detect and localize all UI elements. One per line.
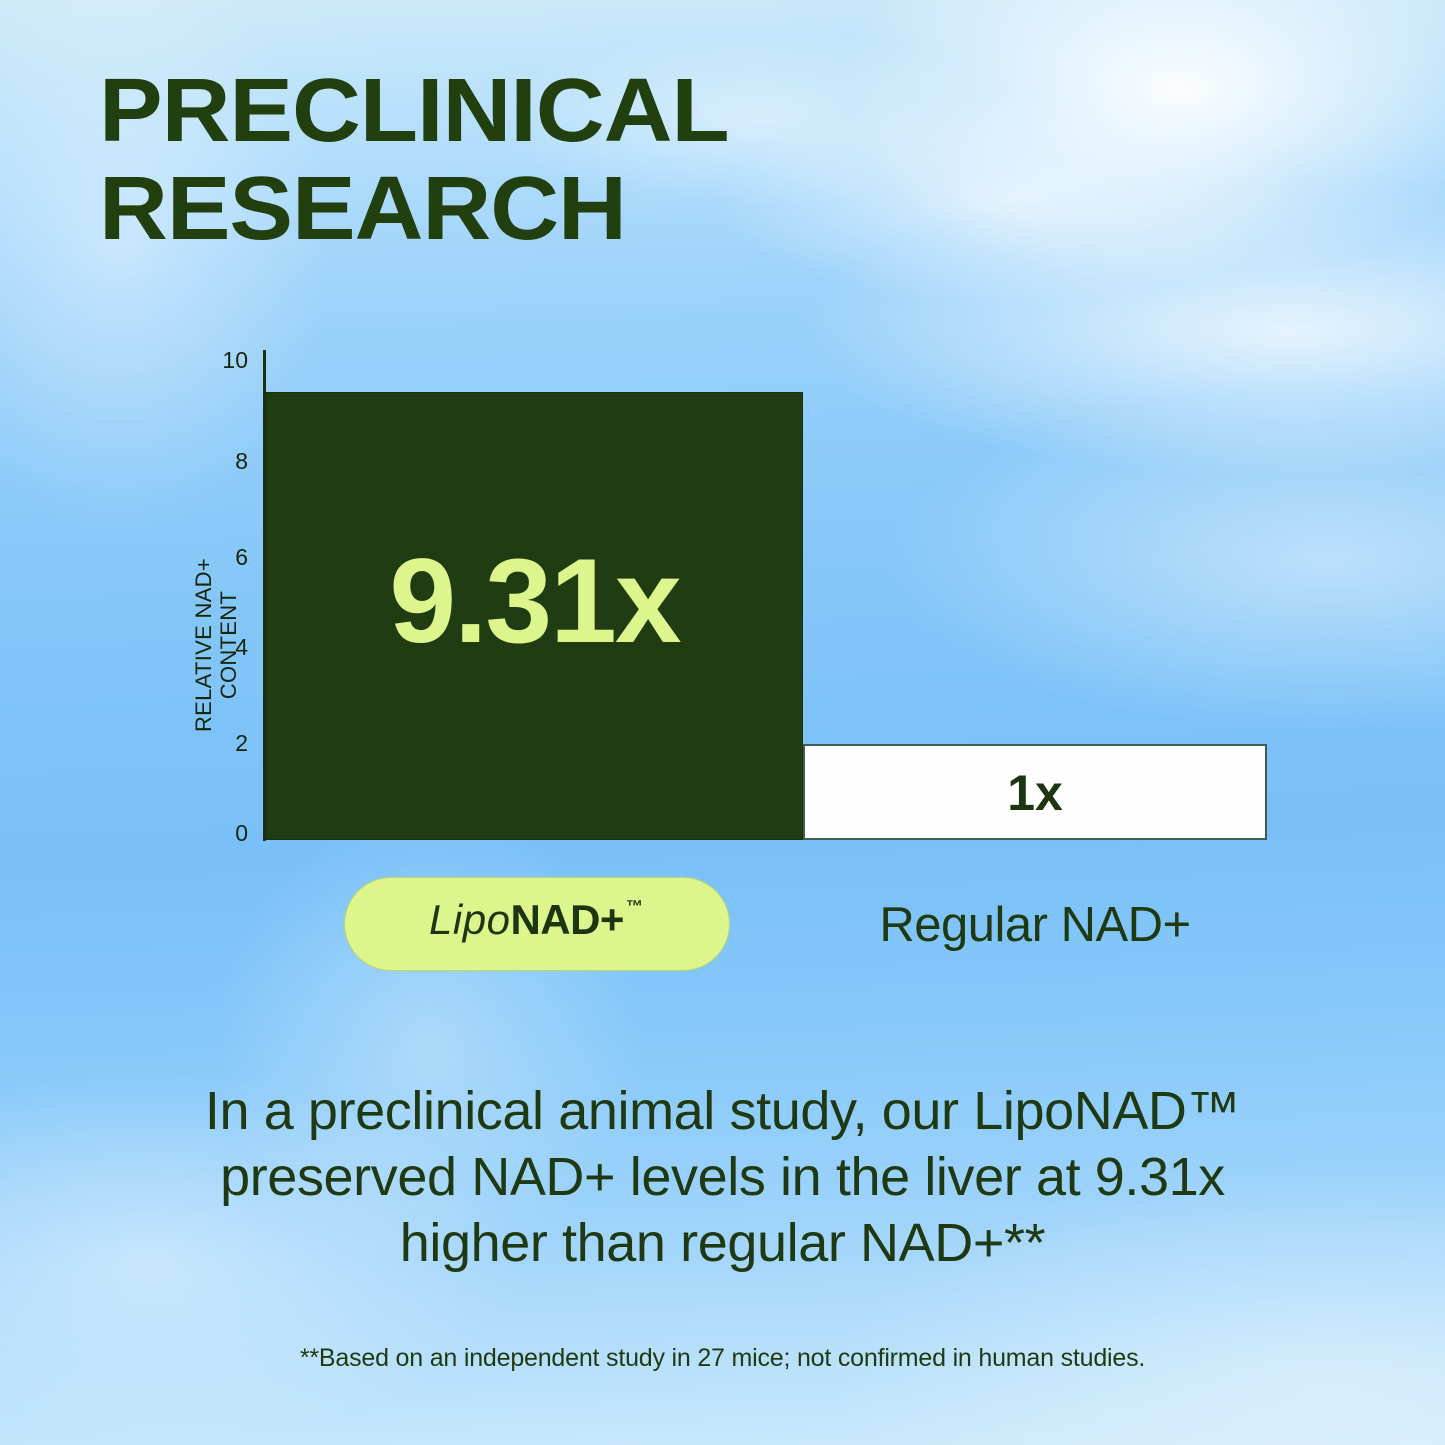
- y-tick-0: 0: [208, 822, 248, 845]
- preclinical-research-infographic: PRECLINICAL RESEARCH 10 8 6 4 2 0 RELATI…: [0, 0, 1445, 1445]
- wordmark-lipo: Lipo: [429, 896, 510, 943]
- y-tick-10: 10: [208, 349, 248, 372]
- category-label-regular-nad: Regular NAD+: [803, 897, 1267, 953]
- wordmark-nad-plus: NAD+: [510, 896, 624, 943]
- trademark-icon: ™: [626, 897, 643, 916]
- bar-label-liponad: 9.31x: [267, 541, 802, 661]
- relative-nad-content-bar-chart: 10 8 6 4 2 0 RELATIVE NAD+ CONTENT 9.31x…: [0, 0, 1445, 1000]
- footnote: **Based on an independent study in 27 mi…: [100, 1343, 1345, 1373]
- bar-regular-nad: 1x: [803, 744, 1267, 840]
- liponad-wordmark: LipoNAD+™: [429, 899, 645, 950]
- bar-label-regular-nad: 1x: [805, 768, 1265, 818]
- y-axis-title: RELATIVE NAD+ CONTENT: [191, 525, 241, 765]
- y-axis-tick-labels: 10 8 6 4 2 0: [204, 0, 248, 1000]
- y-tick-8: 8: [208, 450, 248, 473]
- category-label-liponad-pill: LipoNAD+™: [344, 877, 730, 971]
- bar-liponad: 9.31x: [266, 392, 803, 840]
- body-copy: In a preclinical animal study, our LipoN…: [120, 1078, 1325, 1276]
